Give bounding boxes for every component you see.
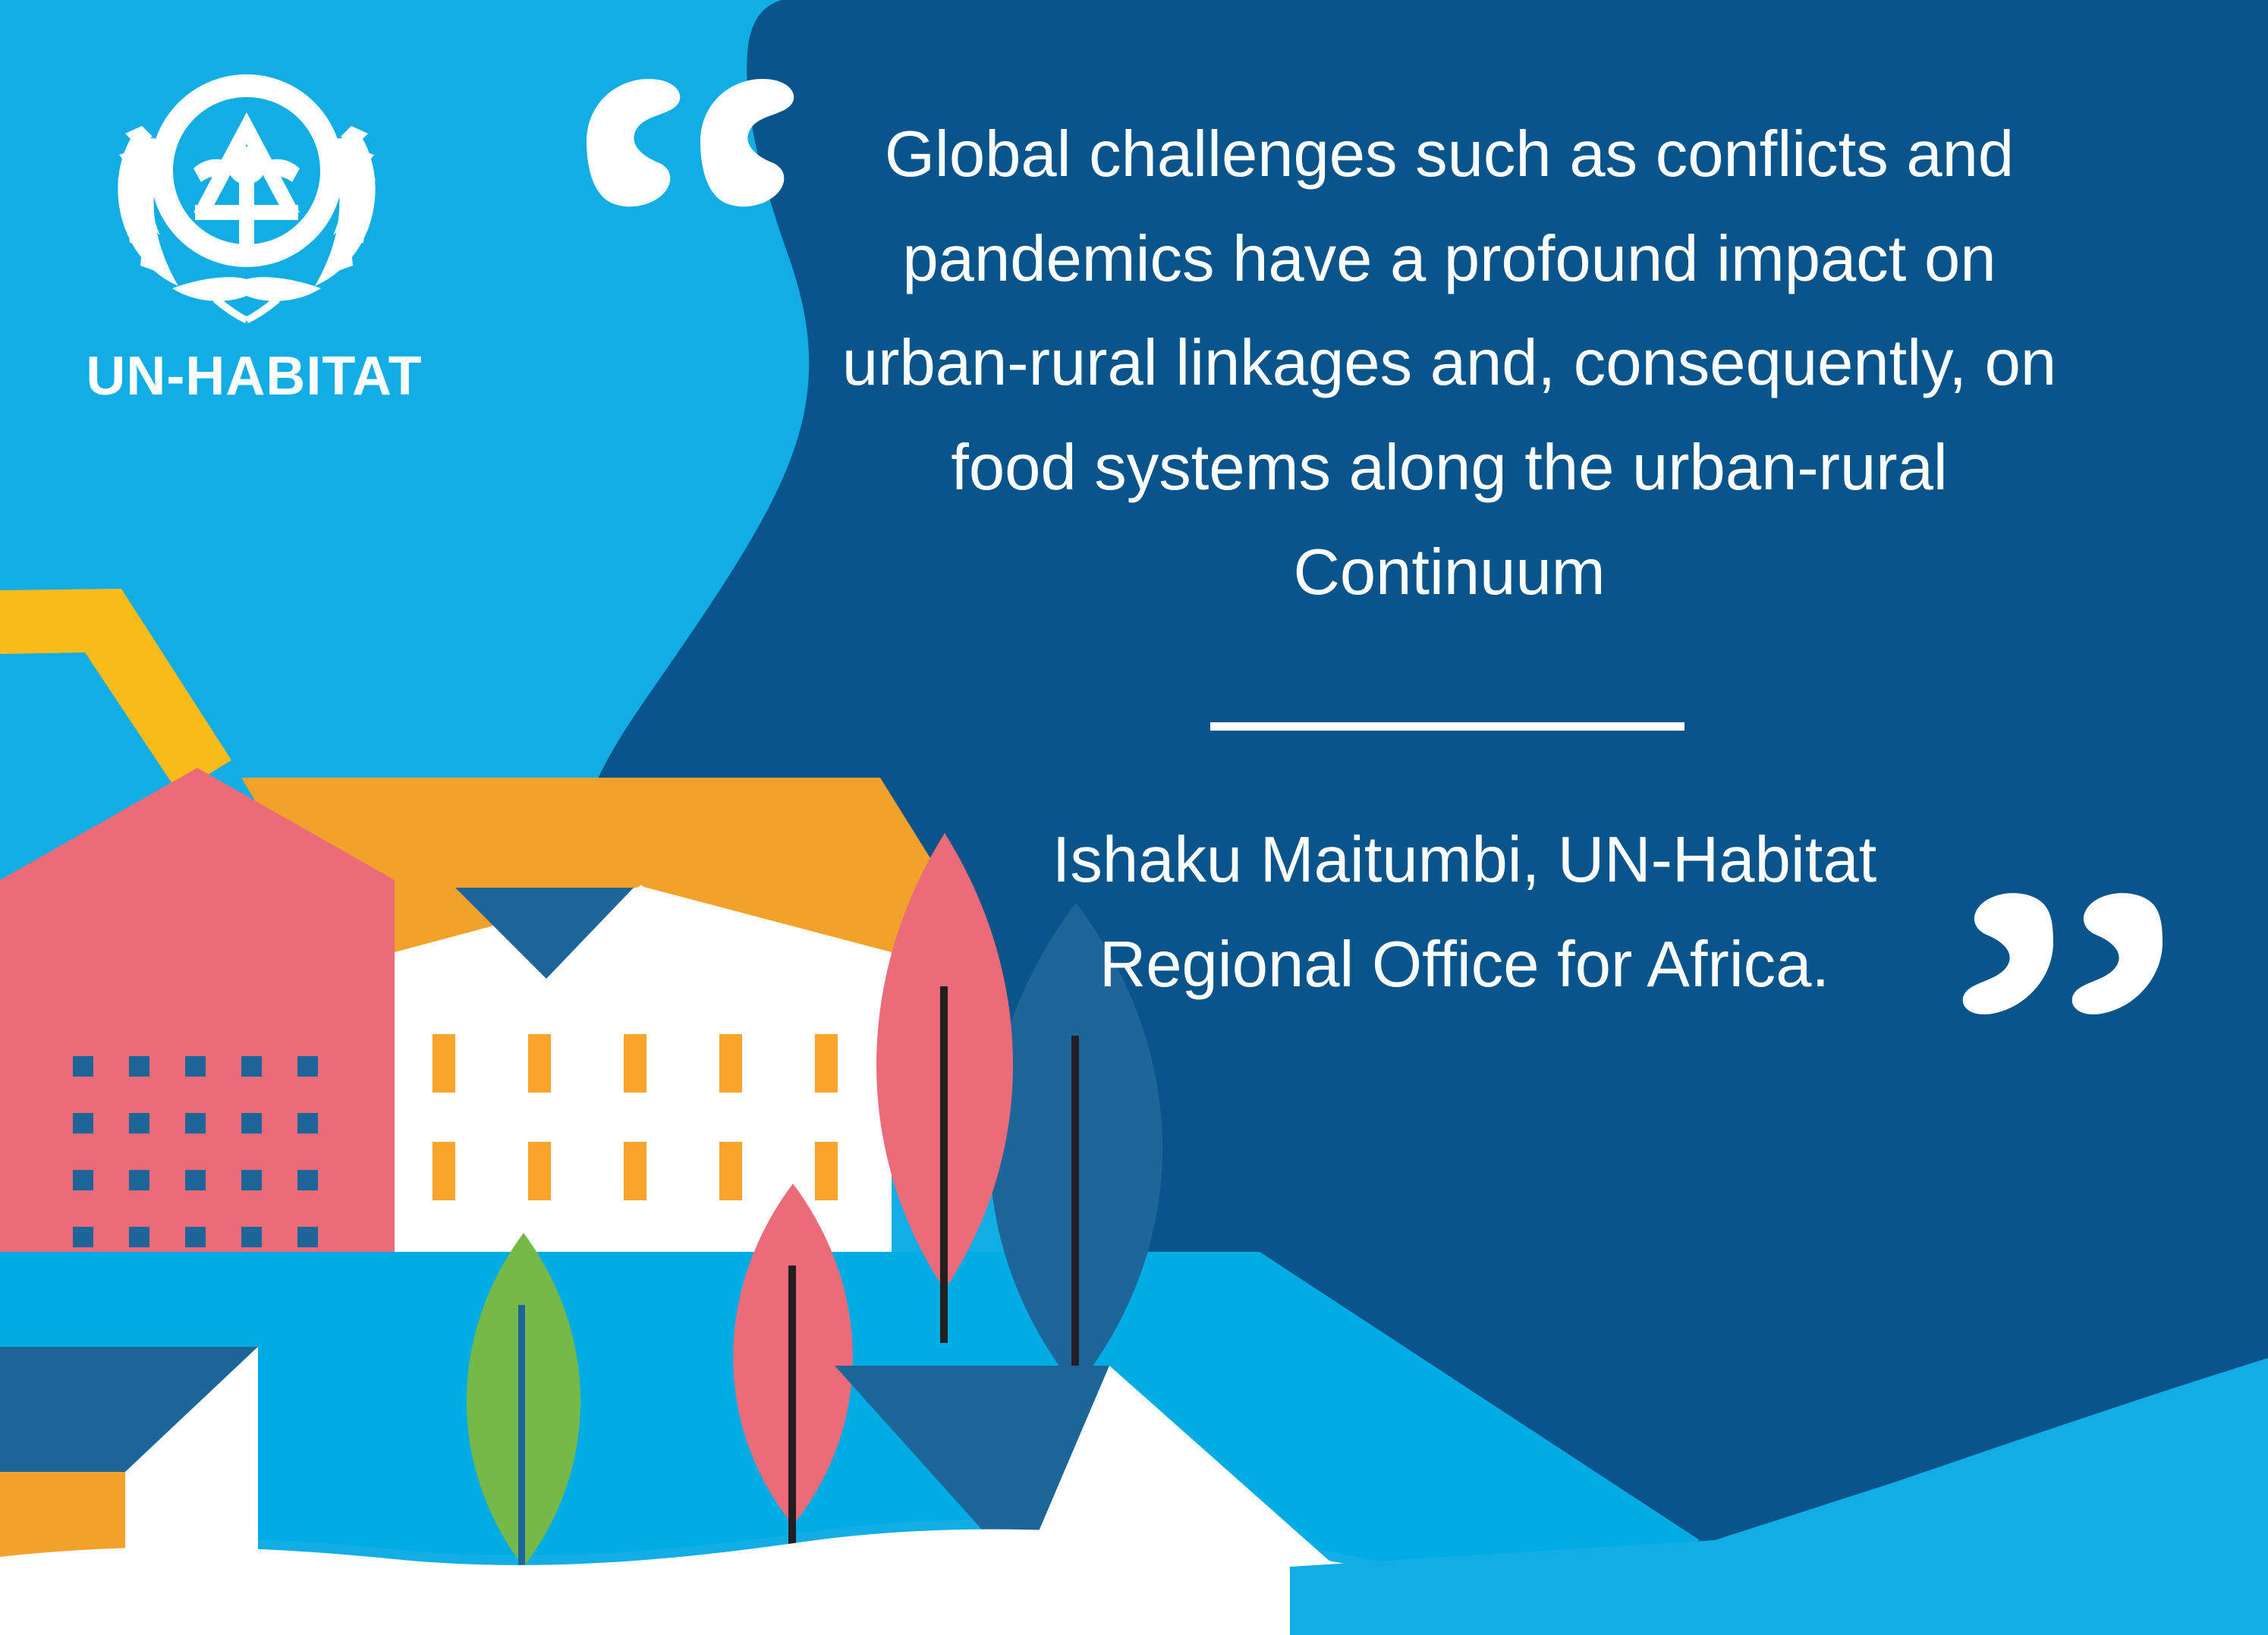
quote-line-2: pandemics have a profound impact on [804, 207, 2094, 312]
poster-canvas: UN-HABITAT Global challenges such as con… [0, 0, 2268, 1635]
un-habitat-emblem-icon [80, 61, 414, 326]
quote-line-4: food systems along the urban-rural [804, 416, 2094, 520]
close-quote-icon [1942, 880, 2170, 1032]
attribution-line-2: Regional Office for Africa. [941, 913, 1988, 1017]
white-civic-building-body [395, 952, 892, 1256]
brand-logo: UN-HABITAT [72, 61, 436, 417]
blue-tree-trunk [1071, 1036, 1079, 1423]
brand-wordmark: UN-HABITAT [72, 349, 436, 404]
green-tree-trunk [518, 1305, 525, 1601]
attribution-block: Ishaku Maitumbi, UN-Habitat Regional Off… [941, 808, 1988, 1017]
open-quote-icon [573, 68, 801, 220]
pink-tree-short-trunk [788, 1266, 796, 1565]
quote-line-1: Global challenges such as conflicts and [804, 102, 2094, 207]
quote-divider [1210, 722, 1684, 731]
quote-line-3: urban-rural linkages and, consequently, … [804, 311, 2094, 416]
quote-text-block: Global challenges such as conflicts and … [804, 102, 2094, 624]
quote-line-5: Continuum [804, 520, 2094, 625]
attribution-line-1: Ishaku Maitumbi, UN-Habitat [941, 808, 1988, 913]
pink-tree-tall-trunk [940, 986, 948, 1343]
